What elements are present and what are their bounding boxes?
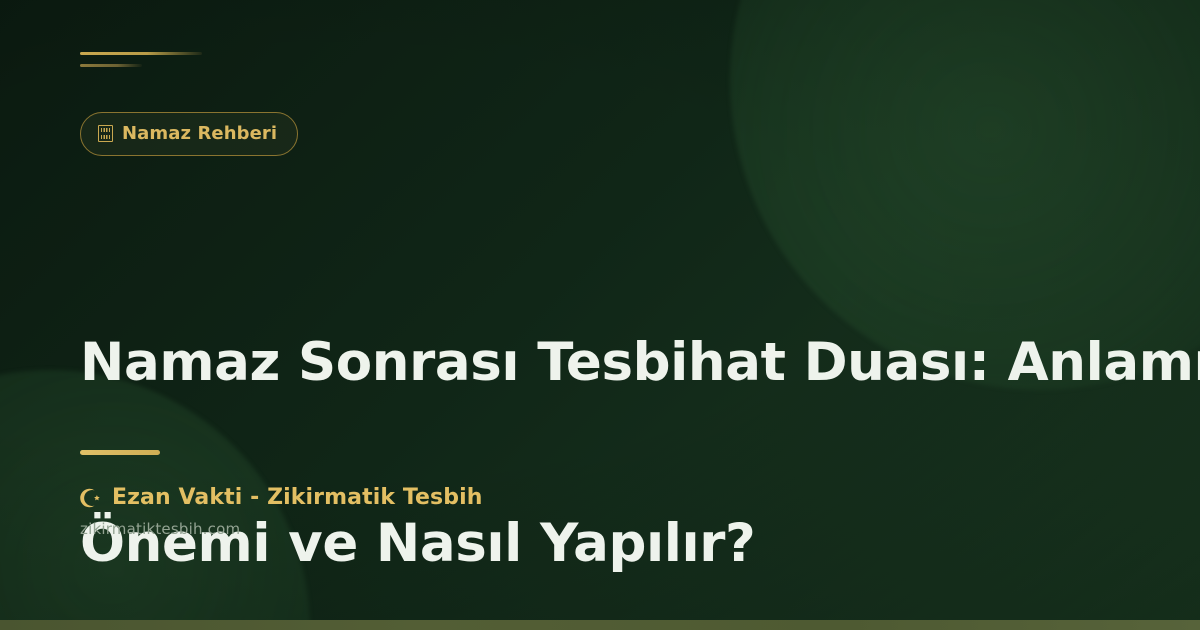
calendar-guide-icon: [98, 125, 113, 142]
page-title: Namaz Sonrası Tesbihat Duası: Anlamı, Ön…: [80, 212, 1200, 630]
bottom-accent-bar: [0, 620, 1200, 630]
ornament-line-short: [80, 64, 142, 67]
site-name: Ezan Vakti - Zikirmatik Tesbih: [112, 485, 483, 510]
footer-divider: [80, 450, 160, 455]
page-title-line-1: Namaz Sonrası Tesbihat Duası: Anlamı,: [80, 333, 1200, 393]
card-footer: Ezan Vakti - Zikirmatik Tesbih zikirmati…: [80, 450, 483, 538]
site-url: zikirmatiktesbih.com: [80, 520, 483, 538]
category-badge-label: Namaz Rehberi: [122, 123, 277, 144]
ornament-line-long: [80, 52, 202, 55]
category-badge[interactable]: Namaz Rehberi: [80, 112, 298, 156]
star-and-crescent-icon: [80, 487, 102, 509]
brand-row: Ezan Vakti - Zikirmatik Tesbih: [80, 485, 483, 510]
top-ornament: [80, 52, 380, 67]
og-card: Namaz Rehberi Namaz Sonrası Tesbihat Dua…: [0, 0, 1200, 630]
